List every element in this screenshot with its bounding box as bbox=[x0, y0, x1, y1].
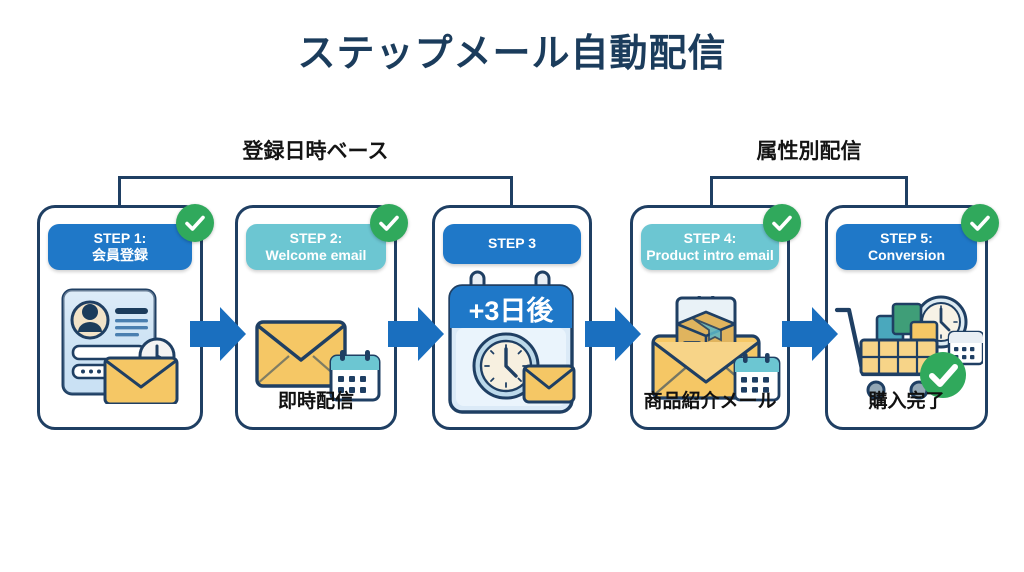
step-5-header-line2: Conversion bbox=[838, 247, 975, 264]
step-2-check-icon bbox=[370, 204, 408, 242]
step-4-caption: 商品紹介メール bbox=[633, 386, 787, 413]
step-5-check-icon bbox=[961, 204, 999, 242]
step-1-header-line2: 会員登録 bbox=[50, 247, 190, 264]
group-label-1: 登録日時ベース bbox=[118, 135, 513, 165]
step-3-header-line1: STEP 3 bbox=[488, 235, 536, 251]
step-card-4[interactable]: STEP 4: Product intro email bbox=[630, 205, 790, 430]
step-2-header-line1: STEP 2: bbox=[290, 230, 343, 246]
step-5-illustration bbox=[828, 286, 985, 387]
step-2-illustration bbox=[238, 286, 394, 387]
step-5-caption: 購入完了 bbox=[828, 386, 985, 413]
calendar-clock-icon: +3日後 bbox=[436, 270, 588, 420]
step-card-5[interactable]: STEP 5: Conversion bbox=[825, 205, 988, 430]
step-card-1[interactable]: STEP 1: 会員登録 bbox=[37, 205, 203, 430]
arrow-step2-step3 bbox=[388, 305, 444, 363]
step-2-header: STEP 2: Welcome email bbox=[246, 224, 386, 270]
group-label-2: 属性別配信 bbox=[710, 135, 908, 165]
step-5-header: STEP 5: Conversion bbox=[836, 224, 977, 270]
step-4-header-line2: Product intro email bbox=[643, 247, 777, 264]
step-1-header-line1: STEP 1: bbox=[94, 230, 147, 246]
step-3-illustration: +3日後 bbox=[435, 270, 589, 419]
step-4-illustration bbox=[633, 286, 787, 387]
step-4-header-line1: STEP 4: bbox=[684, 230, 737, 246]
step-card-3[interactable]: STEP 3 +3日後 bbox=[432, 205, 592, 430]
step-3-calendar-label: +3日後 bbox=[469, 296, 555, 326]
arrow-step3-step4 bbox=[585, 305, 641, 363]
registration-form-icon bbox=[45, 286, 195, 404]
bracket-top-line bbox=[118, 176, 513, 179]
step-4-header: STEP 4: Product intro email bbox=[641, 224, 779, 270]
bracket-top-line bbox=[710, 176, 908, 179]
step-5-header-line1: STEP 5: bbox=[880, 230, 933, 246]
arrow-step1-step2 bbox=[190, 305, 246, 363]
arrow-step4-step5 bbox=[782, 305, 838, 363]
step-1-check-icon bbox=[176, 204, 214, 242]
step-1-illustration bbox=[40, 286, 200, 387]
step-2-header-line2: Welcome email bbox=[248, 247, 384, 264]
page-title: ステップメール自動配信 bbox=[0, 22, 1024, 77]
step-card-2[interactable]: STEP 2: Welcome email 即時配信 bbox=[235, 205, 397, 430]
step-4-check-icon bbox=[763, 204, 801, 242]
step-3-header: STEP 3 bbox=[443, 224, 581, 264]
step-1-header: STEP 1: 会員登録 bbox=[48, 224, 192, 270]
step-2-caption: 即時配信 bbox=[238, 386, 394, 413]
diagram-canvas: ステップメール自動配信 登録日時ベース 属性別配信 STEP 1: 会員登録 bbox=[0, 0, 1024, 572]
